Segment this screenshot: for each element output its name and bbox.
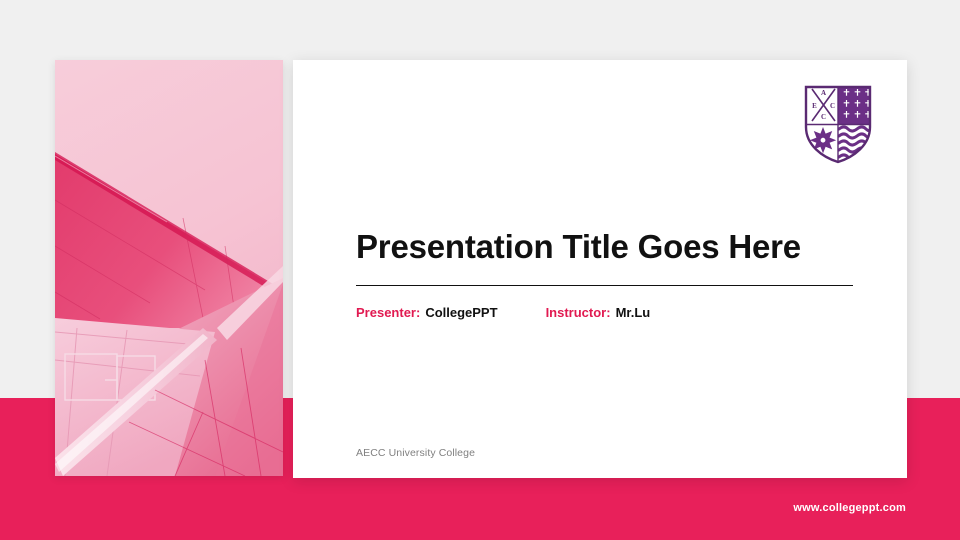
institution-footer: AECC University College — [356, 447, 475, 459]
presenter-value: CollegePPT — [425, 305, 497, 320]
crest-letter-c-right: C — [830, 102, 835, 110]
university-crest-icon: A E C C — [802, 83, 874, 165]
presenter-credit: Presenter: CollegePPT — [356, 305, 498, 320]
presenter-label: Presenter: — [356, 305, 420, 320]
site-url: www.collegeppt.com — [793, 502, 906, 514]
presentation-slide: A E C C — [0, 0, 960, 540]
crest-letter-c-bottom: C — [821, 113, 826, 121]
title-block: Presentation Title Goes Here Presenter: … — [356, 228, 853, 320]
instructor-value: Mr.Lu — [616, 305, 651, 320]
instructor-label: Instructor: — [546, 305, 611, 320]
crest-letter-a: A — [821, 89, 826, 97]
cover-photo-panel — [55, 60, 283, 476]
cover-photo-image — [55, 60, 283, 476]
content-card: A E C C — [293, 60, 907, 478]
page-title: Presentation Title Goes Here — [356, 228, 853, 266]
title-divider — [356, 285, 853, 286]
instructor-credit: Instructor: Mr.Lu — [546, 305, 651, 320]
credits-row: Presenter: CollegePPT Instructor: Mr.Lu — [356, 305, 853, 320]
crest-letter-e: E — [812, 102, 817, 110]
